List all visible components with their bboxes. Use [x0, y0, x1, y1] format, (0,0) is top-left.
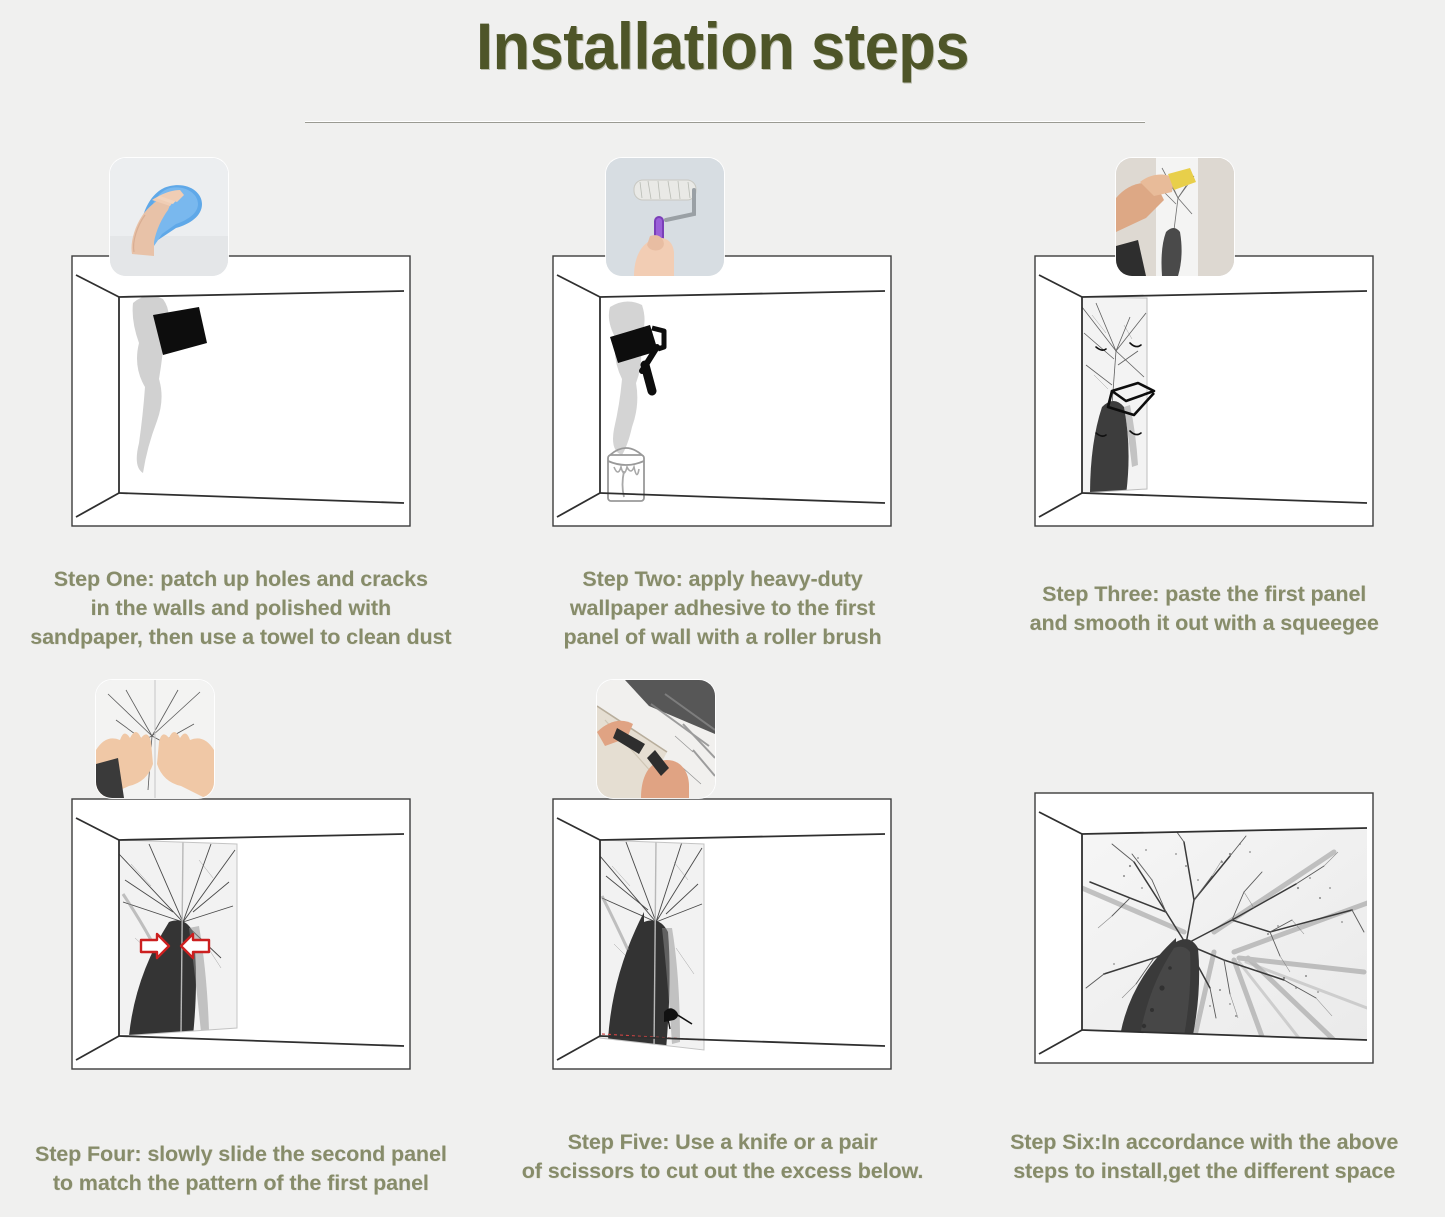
step-card-four: Step Four: slowly slide the second panel…	[0, 680, 482, 1210]
step-card-five: Step Five: Use a knife or a pair of scis…	[482, 680, 964, 1210]
room-diagram-step-four	[71, 798, 411, 1070]
page-title: Installation steps	[51, 8, 1395, 84]
step-two-illustration	[482, 150, 964, 550]
two-panels	[596, 838, 710, 1054]
step-five-illustration	[482, 680, 964, 1080]
full-mural	[1078, 822, 1372, 1046]
steps-grid: Step One: patch up holes and cracks in t…	[0, 150, 1445, 1210]
installation-steps-infographic: Installation steps	[0, 0, 1445, 1217]
step-three-illustration	[963, 150, 1445, 550]
step-five-caption: Step Five: Use a knife or a pair of scis…	[482, 1128, 964, 1186]
step-one-illustration	[0, 150, 482, 550]
room-diagram-step-five	[552, 798, 892, 1070]
step-four-caption: Step Four: slowly slide the second panel…	[0, 1140, 482, 1198]
step-card-six: Step Six:In accordance with the above st…	[963, 680, 1445, 1210]
step-card-two: Step Two: apply heavy-duty wallpaper adh…	[482, 150, 964, 680]
step-two-caption: Step Two: apply heavy-duty wallpaper adh…	[482, 565, 964, 652]
step-four-illustration	[0, 680, 482, 1080]
room-diagram-step-three	[1034, 255, 1374, 527]
room-diagram-step-one	[71, 255, 411, 527]
photo-two-hands-matching-pattern	[96, 680, 214, 798]
photo-knife-trimming-wallpaper	[597, 680, 715, 798]
step-card-one: Step One: patch up holes and cracks in t…	[0, 150, 482, 680]
two-panels	[115, 838, 241, 1036]
step-three-caption: Step Three: paste the first panel and sm…	[963, 580, 1445, 638]
room-diagram-step-two	[552, 255, 892, 527]
room-diagram-step-six	[1034, 792, 1374, 1064]
step-six-illustration	[963, 680, 1445, 1080]
photo-arm-squeegee-on-panel	[1116, 158, 1234, 276]
photo-hand-holding-paint-roller	[606, 158, 724, 276]
step-card-three: Step Three: paste the first panel and sm…	[963, 150, 1445, 680]
photo-hand-wiping-wall-with-blue-towel	[110, 158, 228, 276]
step-six-caption: Step Six:In accordance with the above st…	[963, 1128, 1445, 1186]
step-one-caption: Step One: patch up holes and cracks in t…	[0, 565, 482, 652]
header-divider	[305, 121, 1145, 123]
